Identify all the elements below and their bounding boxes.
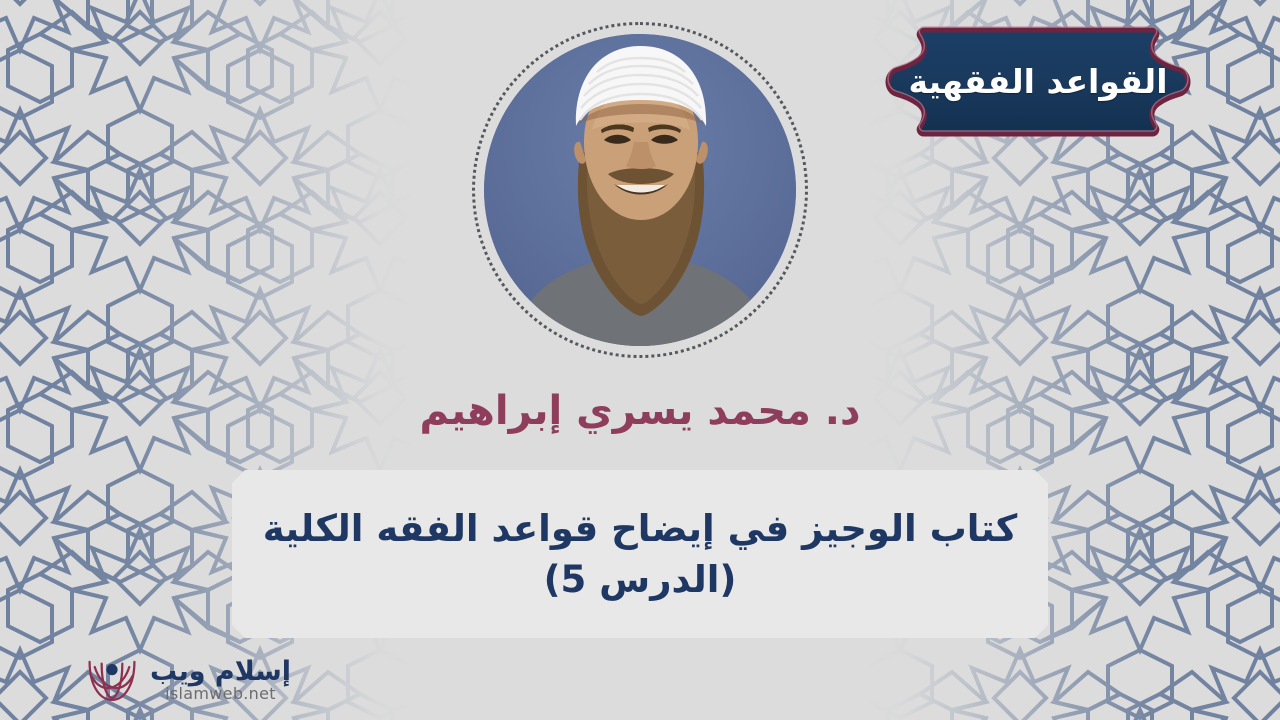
speaker-portrait — [472, 22, 808, 358]
lesson-title-panel: كتاب الوجيز في إيضاح قواعد الفقه الكلية … — [232, 470, 1048, 638]
lesson-title-line-1: كتاب الوجيز في إيضاح قواعد الفقه الكلية — [263, 505, 1018, 552]
speaker-name: د. محمد يسري إبراهيم — [0, 388, 1280, 434]
islamweb-logo-arabic: إسلام ويب — [150, 658, 291, 685]
islamweb-logo-text: إسلام ويب islamweb.net — [150, 658, 291, 702]
islamweb-logo[interactable]: إسلام ويب islamweb.net — [84, 652, 291, 708]
logo-dot-icon — [106, 664, 117, 675]
islamweb-logo-mark-icon — [84, 655, 140, 705]
portrait-dotted-ring — [472, 22, 808, 358]
series-badge-label: القواعد الفقهية — [880, 24, 1196, 140]
lesson-title-line-2: (الدرس 5) — [544, 556, 737, 603]
series-badge: القواعد الفقهية — [880, 24, 1196, 140]
slide-canvas: القواعد الفقهية — [0, 0, 1280, 720]
islamweb-logo-domain: islamweb.net — [165, 686, 276, 702]
